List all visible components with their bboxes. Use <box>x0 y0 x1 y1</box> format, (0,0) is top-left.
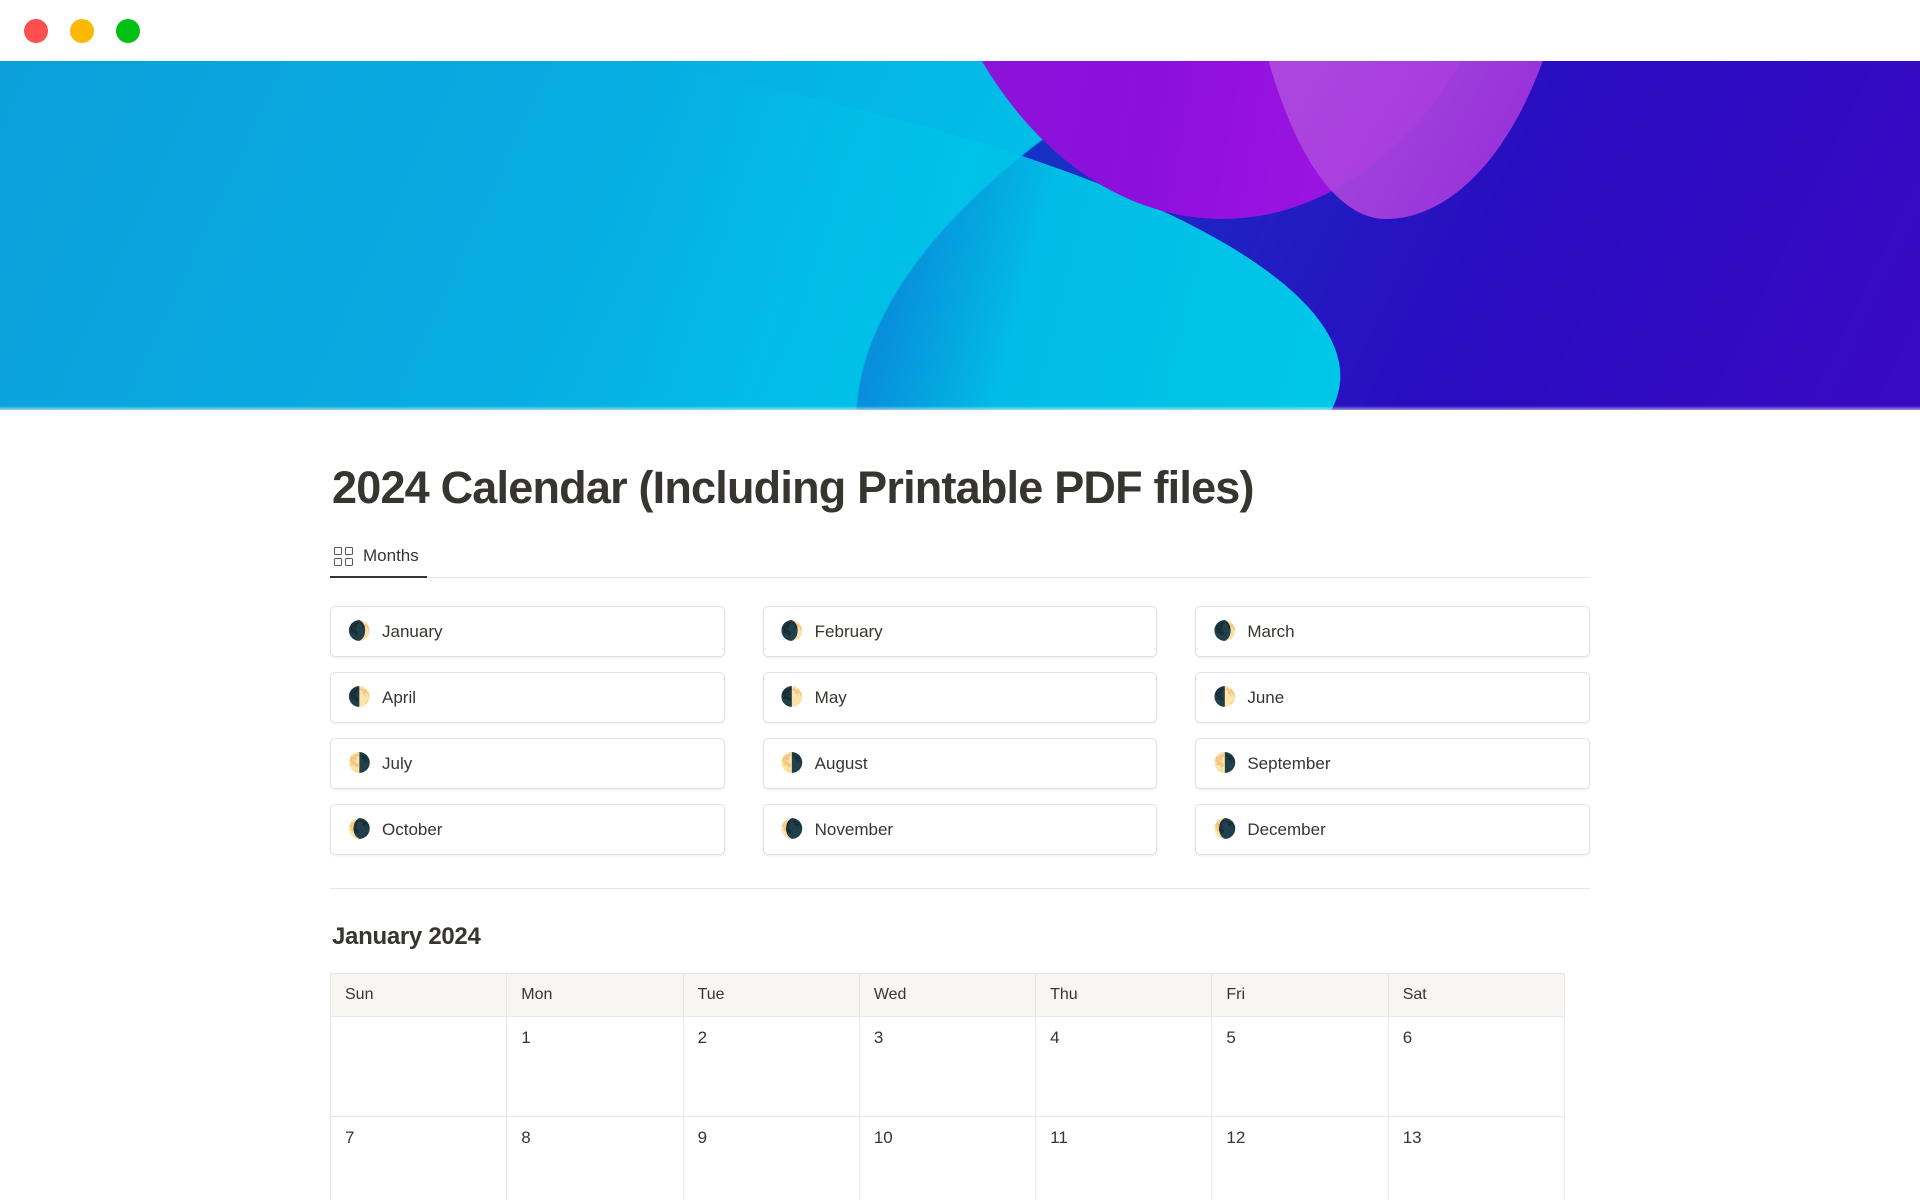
month-label: February <box>815 622 883 642</box>
moon-phase-icon: 🌒 <box>782 621 803 642</box>
day-header-fri: Fri <box>1212 974 1388 1017</box>
calendar-week-row: 1 2 3 4 5 6 <box>331 1017 1565 1117</box>
month-card-november[interactable]: 🌘 November <box>763 804 1158 855</box>
month-card-october[interactable]: 🌘 October <box>330 804 725 855</box>
moon-phase-icon: 🌓 <box>1214 687 1235 708</box>
month-label: June <box>1247 688 1284 708</box>
month-card-february[interactable]: 🌒 February <box>763 606 1158 657</box>
month-label: November <box>815 820 893 840</box>
moon-phase-icon: 🌓 <box>349 687 370 708</box>
day-header-sat: Sat <box>1388 974 1564 1017</box>
calendar-day-cell[interactable]: 1 <box>507 1017 683 1117</box>
month-card-july[interactable]: 🌗 July <box>330 738 725 789</box>
calendar-day-cell[interactable]: 9 <box>683 1117 859 1200</box>
months-grid: 🌒 January 🌒 February 🌒 March 🌓 April 🌓 M… <box>330 606 1590 855</box>
maximize-window-button[interactable] <box>116 19 140 43</box>
month-label: September <box>1247 754 1330 774</box>
cover-bottom-fade <box>0 406 1920 410</box>
calendar-day-cell[interactable]: 11 <box>1036 1117 1212 1200</box>
calendar-day-cell[interactable] <box>331 1017 507 1117</box>
moon-phase-icon: 🌗 <box>782 753 803 774</box>
page-body: 2024 Calendar (Including Printable PDF f… <box>0 410 1920 1200</box>
calendar-week-row: 7 8 9 10 11 12 13 <box>331 1117 1565 1200</box>
moon-phase-icon: 🌗 <box>1214 753 1235 774</box>
calendar-day-cell[interactable]: 13 <box>1388 1117 1564 1200</box>
month-label: December <box>1247 820 1325 840</box>
month-card-may[interactable]: 🌓 May <box>763 672 1158 723</box>
month-card-august[interactable]: 🌗 August <box>763 738 1158 789</box>
tab-months[interactable]: Months <box>330 540 427 577</box>
day-header-mon: Mon <box>507 974 683 1017</box>
calendar-day-cell[interactable]: 8 <box>507 1117 683 1200</box>
page-cover-image <box>0 61 1920 410</box>
month-card-january[interactable]: 🌒 January <box>330 606 725 657</box>
calendar-month-title: January 2024 <box>330 923 1590 951</box>
month-label: July <box>382 754 412 774</box>
calendar-header-row: Sun Mon Tue Wed Thu Fri Sat <box>331 974 1565 1017</box>
traffic-light-buttons <box>24 19 140 43</box>
calendar-header: Sun Mon Tue Wed Thu Fri Sat <box>331 974 1565 1017</box>
content-column: 2024 Calendar (Including Printable PDF f… <box>330 462 1590 1200</box>
calendar-day-cell[interactable]: 6 <box>1388 1017 1564 1117</box>
month-label: January <box>382 622 442 642</box>
minimize-window-button[interactable] <box>70 19 94 43</box>
view-tab-bar: Months <box>330 540 1590 578</box>
month-card-september[interactable]: 🌗 September <box>1195 738 1590 789</box>
day-header-wed: Wed <box>859 974 1035 1017</box>
close-window-button[interactable] <box>24 19 48 43</box>
day-header-tue: Tue <box>683 974 859 1017</box>
day-header-sun: Sun <box>331 974 507 1017</box>
calendar-day-cell[interactable]: 2 <box>683 1017 859 1117</box>
calendar-table: Sun Mon Tue Wed Thu Fri Sat 1 2 3 4 5 <box>330 973 1565 1200</box>
calendar-day-cell[interactable]: 10 <box>859 1117 1035 1200</box>
calendar-day-cell[interactable]: 7 <box>331 1117 507 1200</box>
moon-phase-icon: 🌘 <box>349 819 370 840</box>
moon-phase-icon: 🌘 <box>1214 819 1235 840</box>
calendar-day-cell[interactable]: 5 <box>1212 1017 1388 1117</box>
window-titlebar <box>0 0 1920 61</box>
month-card-march[interactable]: 🌒 March <box>1195 606 1590 657</box>
moon-phase-icon: 🌒 <box>349 621 370 642</box>
moon-phase-icon: 🌒 <box>1214 621 1235 642</box>
month-label: April <box>382 688 416 708</box>
month-label: October <box>382 820 442 840</box>
month-label: August <box>815 754 868 774</box>
day-header-thu: Thu <box>1036 974 1212 1017</box>
section-divider <box>330 888 1590 889</box>
month-card-december[interactable]: 🌘 December <box>1195 804 1590 855</box>
month-card-april[interactable]: 🌓 April <box>330 672 725 723</box>
calendar-body: 1 2 3 4 5 6 7 8 9 10 11 12 13 <box>331 1017 1565 1200</box>
calendar-day-cell[interactable]: 3 <box>859 1017 1035 1117</box>
calendar-day-cell[interactable]: 12 <box>1212 1117 1388 1200</box>
moon-phase-icon: 🌘 <box>782 819 803 840</box>
moon-phase-icon: 🌓 <box>782 687 803 708</box>
month-card-june[interactable]: 🌓 June <box>1195 672 1590 723</box>
month-label: March <box>1247 622 1294 642</box>
page-title: 2024 Calendar (Including Printable PDF f… <box>330 462 1590 514</box>
moon-phase-icon: 🌗 <box>349 753 370 774</box>
grid-icon <box>334 547 353 566</box>
tab-months-label: Months <box>363 546 419 566</box>
calendar-day-cell[interactable]: 4 <box>1036 1017 1212 1117</box>
month-label: May <box>815 688 847 708</box>
